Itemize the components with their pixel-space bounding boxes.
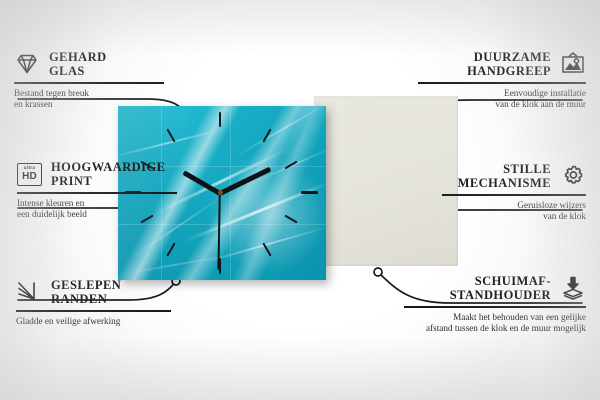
- feature-title-line2: STANDHOUDER: [450, 288, 551, 302]
- feature-desc-line2: van de klok aan de muur: [495, 99, 586, 109]
- feature-rule: [16, 310, 171, 312]
- feature-title-line1: DUURZAME: [474, 50, 551, 64]
- gear-icon: [560, 163, 586, 189]
- feature-gehard-glas[interactable]: GEHARD GLAS Bestand tegen breuk en krass…: [14, 50, 184, 110]
- clock-tick: [301, 191, 318, 194]
- clock-center-hub: [218, 190, 223, 195]
- diamond-icon: [14, 51, 40, 77]
- feature-title-line1: SCHUIMAF-: [475, 274, 551, 288]
- feature-desc-line2: en krassen: [14, 99, 53, 109]
- feature-rule: [17, 192, 177, 194]
- feature-schuimaf-standhouder[interactable]: SCHUIMAF- STANDHOUDER Maakt het behouden…: [392, 274, 586, 334]
- feature-rule: [418, 82, 586, 84]
- diagonal-lines-icon: [16, 279, 42, 305]
- feature-title-line2: PRINT: [51, 174, 92, 188]
- feature-title-line1: STILLE: [503, 162, 551, 176]
- feature-title-line2: MECHANISME: [458, 176, 551, 190]
- feature-rule: [14, 82, 164, 84]
- ultra-hd-icon: ultra HD: [17, 163, 42, 186]
- feature-geslepen-randen[interactable]: GESLEPEN RANDEN Gladde en veilige afwerk…: [16, 278, 196, 327]
- feature-desc-line2: een duidelijk beeld: [17, 209, 87, 219]
- feature-desc-line1: Eenvoudige installatie: [504, 88, 586, 98]
- feature-rule: [442, 194, 586, 196]
- download-stack-icon: [560, 275, 586, 301]
- feature-desc-line1: Intense kleuren en: [17, 198, 84, 208]
- feature-hoogwaardige-print[interactable]: ultra HD HOOGWAARDIGE PRINT Intense kleu…: [17, 160, 197, 220]
- feature-title-line1: GEHARD: [49, 50, 107, 64]
- infographic-canvas: GEHARD GLAS Bestand tegen breuk en krass…: [0, 0, 600, 400]
- feature-title-line2: HANDGREEP: [467, 64, 551, 78]
- feature-stille-mechanisme[interactable]: STILLE MECHANISME Geruisloze wijzers van…: [430, 162, 586, 222]
- feature-title-line1: HOOGWAARDIGE: [51, 160, 165, 174]
- feature-desc-line1: Geruisloze wijzers: [517, 200, 586, 210]
- feature-desc-line2: afstand tussen de klok en de muur mogeli…: [426, 323, 586, 333]
- feature-rule: [404, 306, 586, 308]
- picture-frame-icon: [560, 51, 586, 77]
- feature-title-line2: GLAS: [49, 64, 85, 78]
- clock-tick: [219, 112, 221, 127]
- feature-desc-line1: Maakt het behouden van een gelijke: [453, 312, 586, 322]
- feature-desc-line1: Gladde en veilige afwerking: [16, 316, 120, 326]
- feature-desc-line2: van de klok: [543, 211, 586, 221]
- feature-title-line2: RANDEN: [51, 292, 107, 306]
- ultra-hd-large-label: HD: [22, 172, 37, 182]
- feature-duurzame-handgreep[interactable]: DUURZAME HANDGREEP Eenvoudige installati…: [406, 50, 586, 110]
- feature-title-line1: GESLEPEN: [51, 278, 121, 292]
- feature-desc-line1: Bestand tegen breuk: [14, 88, 89, 98]
